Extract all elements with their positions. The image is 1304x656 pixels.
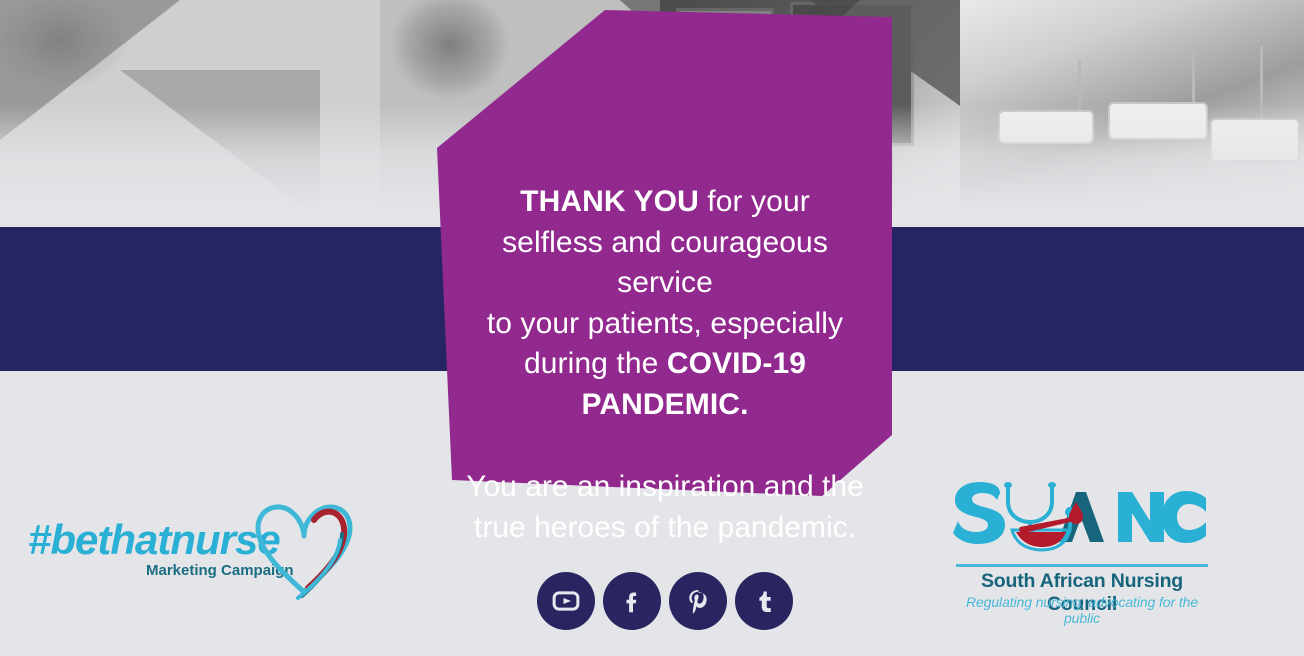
youtube-icon <box>551 586 581 616</box>
sanc-acronym-mark <box>950 480 1212 558</box>
tumblr-button[interactable] <box>735 572 793 630</box>
letter-c <box>1162 491 1206 543</box>
inspiration-line2: true heroes of the pandemic. <box>474 511 856 544</box>
stethoscope-icon <box>1008 486 1052 522</box>
pinterest-button[interactable] <box>669 572 727 630</box>
thank-you-rest: for your <box>699 185 810 218</box>
poster-canvas: THANK YOU for your selfless and courageo… <box>0 0 1304 656</box>
thank-you-paragraph: THANK YOU for your selfless and courageo… <box>458 182 872 425</box>
covid-19-emphasis: COVID-19 <box>667 347 806 380</box>
facebook-button[interactable] <box>603 572 661 630</box>
inspiration-line1: You are an inspiration and the <box>466 470 864 503</box>
sanc-tagline: Regulating nursing, advocating for the p… <box>956 594 1208 626</box>
bethatnurse-logo[interactable]: #bethatnurse Marketing Campaign <box>24 490 354 610</box>
youtube-button[interactable] <box>537 572 595 630</box>
thank-you-lead: THANK YOU <box>520 185 699 218</box>
pandemic-emphasis: PANDEMIC. <box>581 388 748 421</box>
thank-you-line3: to your patients, especially <box>487 307 843 340</box>
callout-text-block: THANK YOU for your selfless and courageo… <box>430 10 900 510</box>
sanc-logo[interactable]: South African Nursing Council Regulating… <box>950 480 1220 610</box>
pinterest-icon <box>683 586 713 616</box>
tumblr-icon <box>749 586 779 616</box>
thank-you-line4-pre: during the <box>524 347 667 380</box>
social-links-row <box>537 572 795 634</box>
sanc-divider-rule <box>956 564 1208 567</box>
letter-s <box>953 482 1005 544</box>
swirl-heart-icon <box>242 488 362 608</box>
facebook-icon <box>617 586 647 616</box>
letter-n <box>1118 492 1164 542</box>
thank-you-line2: selfless and courageous service <box>502 226 828 300</box>
inspiration-paragraph: You are an inspiration and the true hero… <box>458 467 872 548</box>
